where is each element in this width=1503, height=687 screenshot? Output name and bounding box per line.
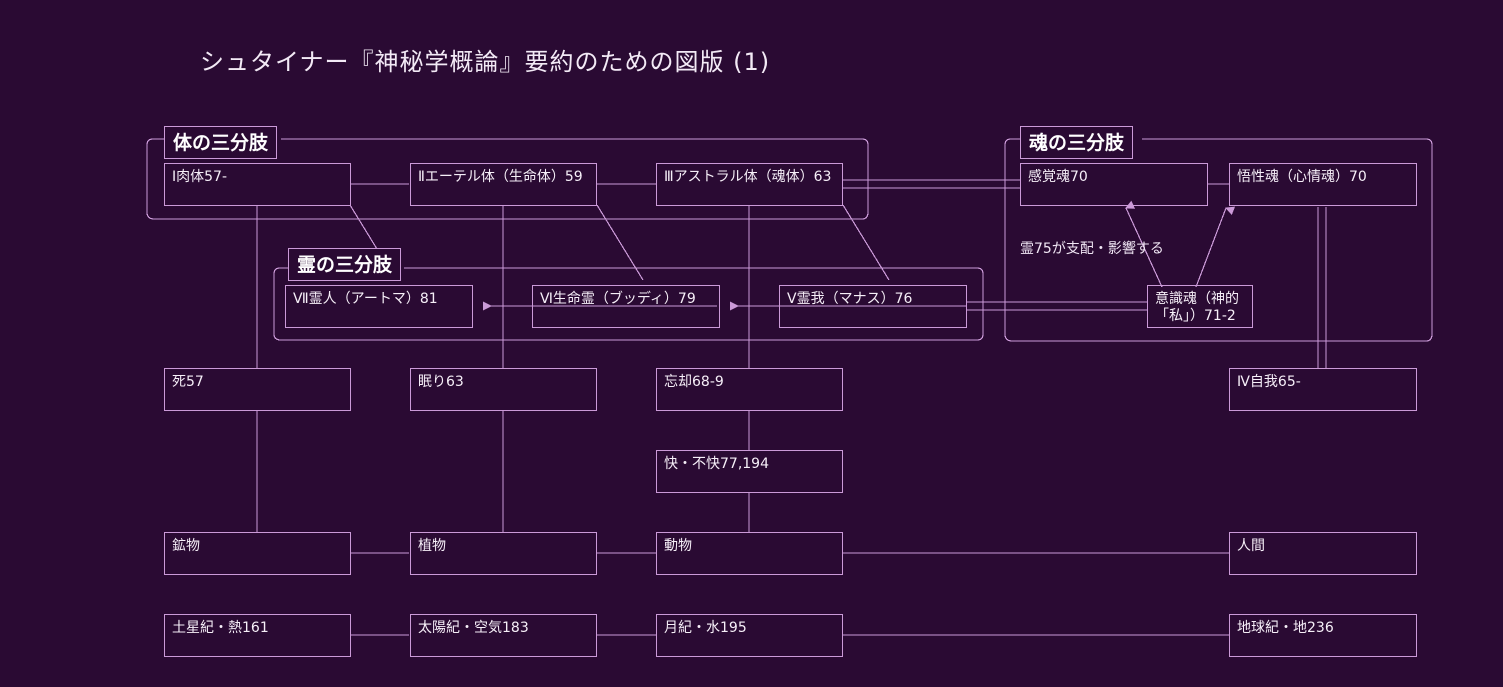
node-spirit-man[interactable]: Ⅶ霊人（アートマ）81 [285, 285, 473, 328]
node-saturn-period[interactable]: 土星紀・熱161 [164, 614, 351, 657]
node-sun-period[interactable]: 太陽紀・空気183 [410, 614, 597, 657]
node-forgetting[interactable]: 忘却68-9 [656, 368, 843, 411]
node-consciousness-soul[interactable]: 意識魂（神的「私」）71-2 [1147, 285, 1253, 328]
node-human[interactable]: 人間 [1229, 532, 1417, 575]
node-mineral[interactable]: 鉱物 [164, 532, 351, 575]
node-physical-body[interactable]: Ⅰ肉体57- [164, 163, 351, 206]
node-intellectual-soul[interactable]: 悟性魂（心情魂）70 [1229, 163, 1417, 206]
node-plant[interactable]: 植物 [410, 532, 597, 575]
diagram-canvas: シュタイナー『神秘学概論』要約のための図版 (1) [0, 0, 1503, 687]
node-life-spirit[interactable]: Ⅵ生命霊（ブッディ）79 [532, 285, 720, 328]
group-label-soul: 魂の三分肢 [1020, 126, 1133, 159]
node-pleasure-pain[interactable]: 快・不快77,194 [656, 450, 843, 493]
node-earth-period[interactable]: 地球紀・地236 [1229, 614, 1417, 657]
node-ego[interactable]: Ⅳ自我65- [1229, 368, 1417, 411]
node-etheric-body[interactable]: Ⅱエーテル体（生命体）59 [410, 163, 597, 206]
node-sleep[interactable]: 眠り63 [410, 368, 597, 411]
connector-layer [0, 0, 1503, 687]
node-astral-body[interactable]: Ⅲアストラル体（魂体）63 [656, 163, 843, 206]
group-label-body: 体の三分肢 [164, 126, 277, 159]
group-label-spirit: 霊の三分肢 [288, 248, 401, 281]
page-title: シュタイナー『神秘学概論』要約のための図版 (1) [200, 42, 770, 77]
annotation-spirit-rules: 霊75が支配・影響する [1020, 238, 1164, 258]
node-spirit-self[interactable]: Ⅴ霊我（マナス）76 [779, 285, 967, 328]
node-moon-period[interactable]: 月紀・水195 [656, 614, 843, 657]
node-animal[interactable]: 動物 [656, 532, 843, 575]
node-sentient-soul[interactable]: 感覚魂70 [1020, 163, 1208, 206]
node-death[interactable]: 死57 [164, 368, 351, 411]
